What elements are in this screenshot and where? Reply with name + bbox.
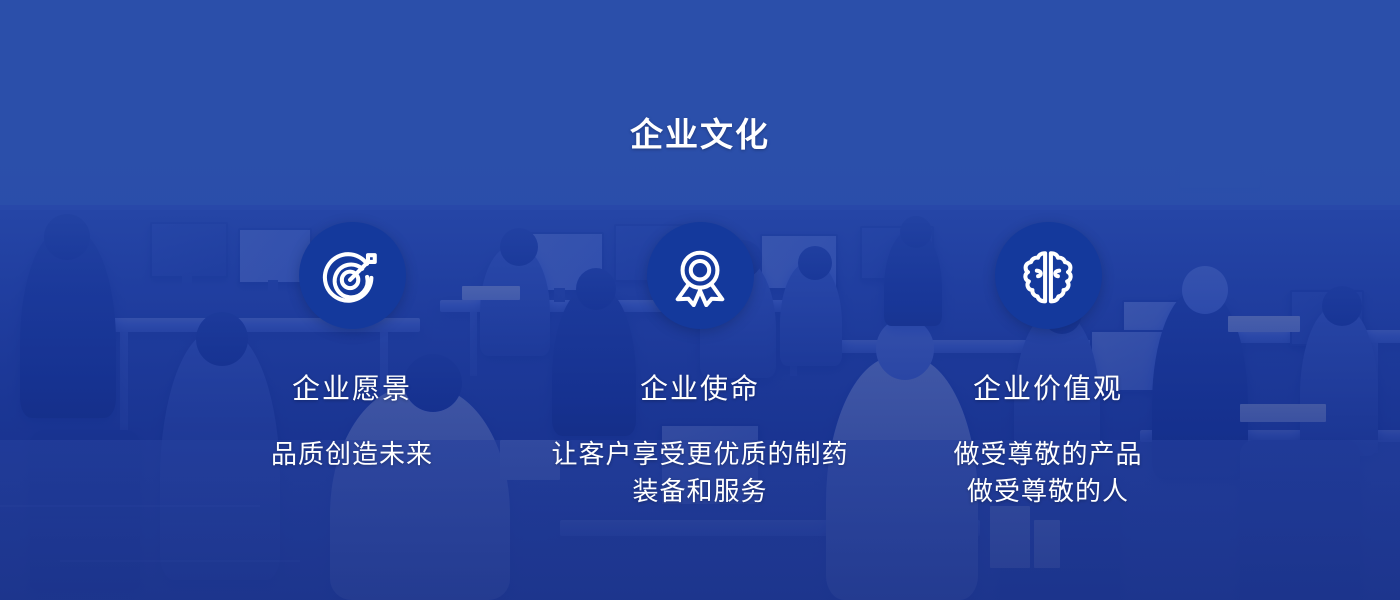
culture-card-values: 企业价值观 做受尊敬的产品 做受尊敬的人 bbox=[874, 222, 1222, 510]
culture-card-title: 企业价值观 bbox=[973, 375, 1123, 403]
banner-content: 企业文化 企业愿景 品质创造未来 bbox=[0, 0, 1400, 600]
corporate-culture-banner: 企业文化 企业愿景 品质创造未来 bbox=[0, 0, 1400, 600]
culture-card-mission: 企业使命 让客户享受更优质的制药 装备和服务 bbox=[526, 222, 874, 510]
culture-card-list: 企业愿景 品质创造未来 企业使命 让客户享受更优质的制药 装备和服务 bbox=[0, 222, 1400, 510]
culture-card-desc: 做受尊敬的产品 做受尊敬的人 bbox=[953, 436, 1142, 510]
culture-card-desc: 让客户享受更优质的制药 装备和服务 bbox=[551, 436, 848, 510]
page-title: 企业文化 bbox=[0, 108, 1400, 156]
brain-icon bbox=[995, 222, 1102, 329]
culture-card-vision: 企业愿景 品质创造未来 bbox=[178, 222, 526, 510]
culture-card-desc: 品质创造未来 bbox=[271, 436, 433, 473]
award-ribbon-icon bbox=[647, 222, 754, 329]
culture-card-title: 企业使命 bbox=[640, 375, 760, 403]
target-arrow-icon bbox=[299, 222, 406, 329]
culture-card-title: 企业愿景 bbox=[292, 375, 412, 403]
